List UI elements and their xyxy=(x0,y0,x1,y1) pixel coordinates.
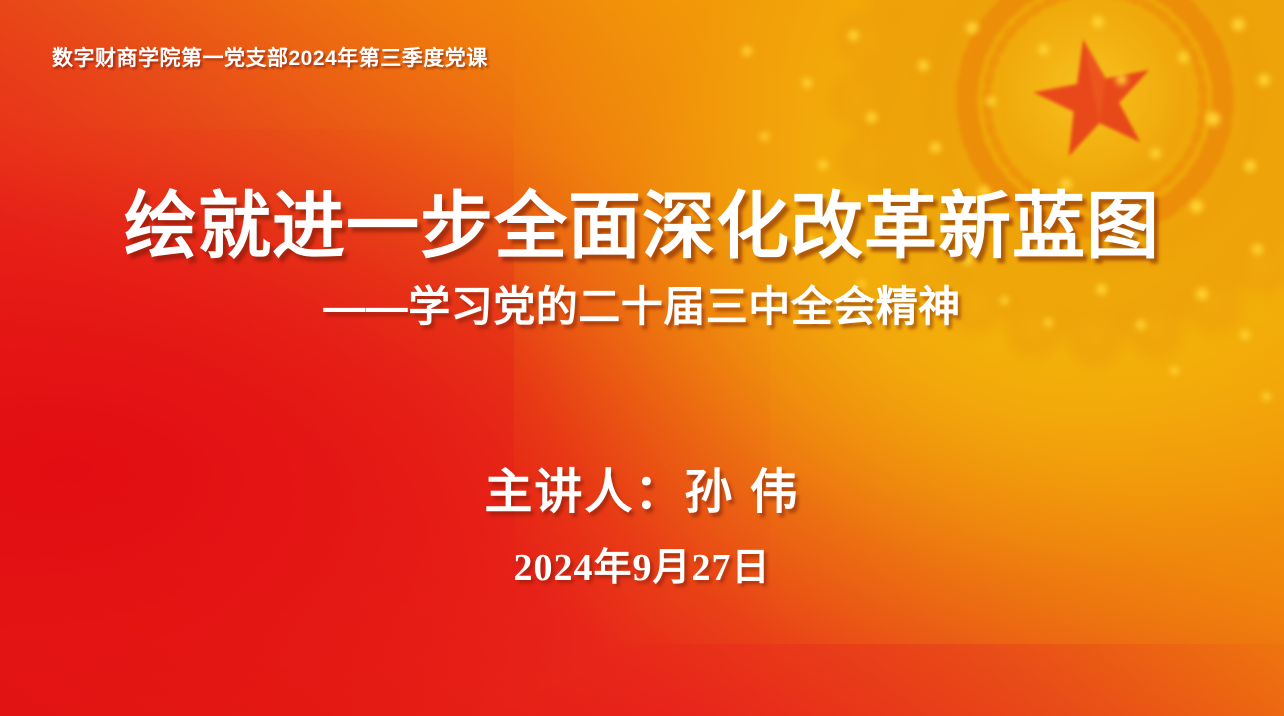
page-subtitle: ——学习党的二十届三中全会精神 xyxy=(0,282,1284,332)
presenter-group: 主讲人：孙 伟 2024年9月27日 xyxy=(0,452,1284,591)
medallion-inner-disc xyxy=(997,2,1193,198)
presentation-date: 2024年9月27日 xyxy=(0,536,1284,591)
title-group: 绘就进一步全面深化改革新蓝图 ——学习党的二十届三中全会精神 xyxy=(0,186,1284,331)
page-title: 绘就进一步全面深化改革新蓝图 xyxy=(0,186,1284,268)
five-pointed-star xyxy=(1025,28,1162,161)
presentation-slide: 数字财商学院第一党支部2024年第三季度党课 绘就进一步全面深化改革新蓝图 ——… xyxy=(0,0,1284,716)
presenter-name: 主讲人：孙 伟 xyxy=(0,452,1284,522)
slide-header-caption: 数字财商学院第一党支部2024年第三季度党课 xyxy=(52,42,488,72)
polka-dot-pattern xyxy=(0,0,1284,716)
